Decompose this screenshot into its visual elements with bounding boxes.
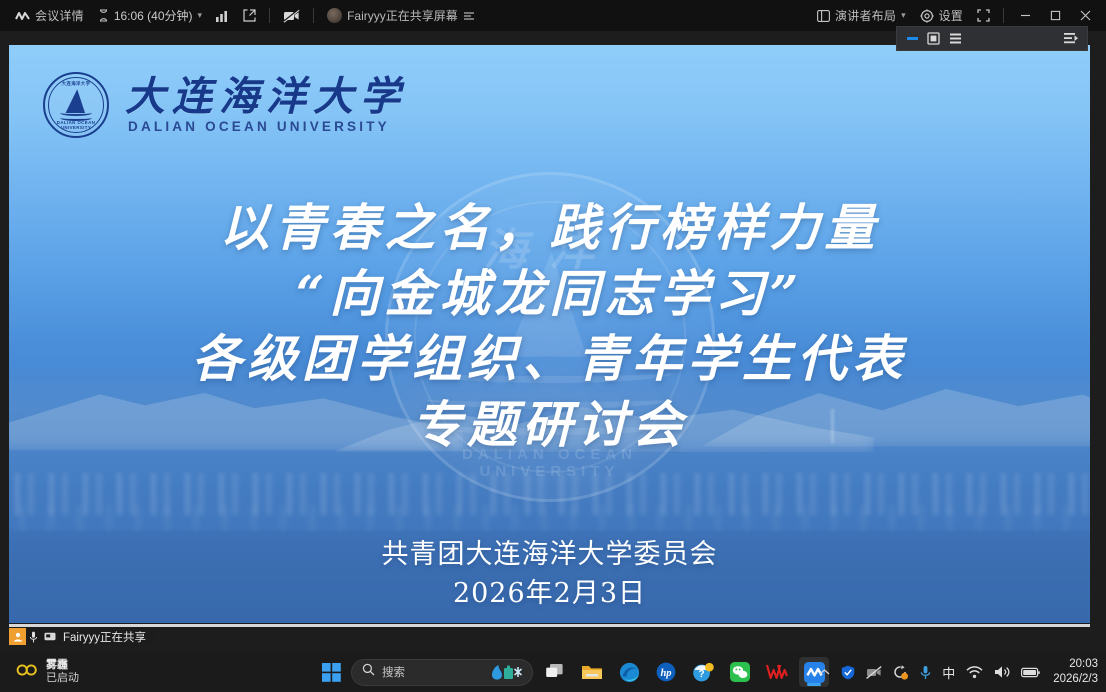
signal-bars-icon bbox=[216, 10, 229, 22]
svg-text:hp: hp bbox=[660, 668, 671, 679]
sharer-indicator[interactable]: Fairyyy正在共享屏幕 bbox=[320, 4, 482, 27]
avatar bbox=[327, 8, 342, 23]
mini-minimize-button[interactable] bbox=[907, 37, 918, 40]
share-external-icon bbox=[243, 9, 256, 22]
taskbar-center: 搜索 bbox=[318, 657, 829, 687]
camera-off-button[interactable] bbox=[276, 5, 307, 27]
speaker-layout-label: 演讲者布局 bbox=[835, 10, 896, 22]
clock-time: 20:03 bbox=[1069, 657, 1098, 672]
side-panel-toggle-icon bbox=[1064, 32, 1079, 45]
chevron-down-icon-layout: ▾ bbox=[901, 11, 906, 20]
camera-muted-icon[interactable] bbox=[866, 666, 882, 679]
microphone-icon[interactable] bbox=[920, 665, 931, 680]
wifi-icon[interactable] bbox=[966, 666, 983, 679]
slide-title-line-2: “向金城龙同志学习” bbox=[9, 261, 1090, 327]
university-name-english: DALIAN OCEAN UNIVERSITY bbox=[125, 119, 407, 134]
slide-title-line-4: 专题研讨会 bbox=[9, 392, 1090, 458]
slide-title-line-1: 以青春之名，践行榜样力量 bbox=[9, 195, 1090, 261]
sharing-status-label: Fairyyy正在共享 bbox=[59, 629, 146, 645]
slide-subtitle-date: 2026年2月3日 bbox=[9, 574, 1090, 613]
fullscreen-icon bbox=[977, 9, 990, 22]
meeting-logo-icon bbox=[15, 10, 30, 21]
list-view-icon bbox=[949, 32, 962, 45]
seal-bottom-text: DALIAN OCEAN UNIVERSITY bbox=[45, 120, 107, 130]
meeting-details-label: 会议详情 bbox=[35, 10, 84, 22]
sharer-label: Fairyyy正在共享屏幕 bbox=[347, 10, 458, 22]
city-skyline-reflection bbox=[9, 505, 1090, 531]
windows-taskbar: 雾霾 已启动 搜索 bbox=[0, 652, 1106, 692]
meeting-timer[interactable]: 16:06 (40分钟) ▾ bbox=[91, 5, 209, 26]
university-name-chinese: 大连海洋大学 bbox=[125, 76, 407, 118]
mini-toolbar-right bbox=[1064, 32, 1087, 45]
toolbar-divider bbox=[269, 8, 270, 23]
svg-text:?: ? bbox=[699, 669, 705, 680]
floating-mini-toolbar bbox=[896, 26, 1088, 51]
side-panel-toggle-button[interactable] bbox=[1064, 32, 1079, 45]
taskbar-clock[interactable]: 20:03 2026/2/3 bbox=[1053, 657, 1098, 686]
slide-title: 以青春之名，践行榜样力量 “向金城龙同志学习” 各级团学组织、青年学生代表 专题… bbox=[9, 195, 1090, 457]
battery-icon[interactable] bbox=[1021, 667, 1040, 678]
share-region-underline bbox=[9, 624, 1090, 627]
taskbar-weather-widget[interactable]: 雾霾 已启动 bbox=[0, 659, 300, 685]
meeting-toolbar-left: 会议详情 16:06 (40分钟) ▾ bbox=[0, 4, 482, 27]
university-logo: 大连海洋大学 DALIAN OCEAN UNIVERSITY 大连海洋大学 DA… bbox=[43, 72, 407, 138]
clock-date: 2026/2/3 bbox=[1053, 672, 1098, 687]
more-menu-icon[interactable] bbox=[463, 11, 475, 21]
settings-button[interactable]: 设置 bbox=[913, 5, 970, 27]
edge-browser-icon[interactable] bbox=[614, 657, 644, 687]
layout-icon bbox=[817, 10, 830, 22]
meeting-details-button[interactable]: 会议详情 bbox=[8, 6, 91, 26]
toolbar-divider-3 bbox=[1003, 8, 1004, 23]
file-explorer-icon[interactable] bbox=[577, 657, 607, 687]
network-quality-button[interactable] bbox=[209, 6, 236, 26]
restore-window-icon bbox=[927, 32, 940, 45]
wechat-icon[interactable] bbox=[725, 657, 755, 687]
toolbar-divider-2 bbox=[313, 8, 314, 23]
seal-top-text: 大连海洋大学 bbox=[45, 81, 107, 87]
gear-icon bbox=[920, 9, 934, 23]
weather-text: 雾霾 已启动 bbox=[46, 659, 79, 685]
speaker-layout-button[interactable]: 演讲者布局 ▾ bbox=[810, 6, 913, 26]
slide-subtitle-organization: 共青团大连海洋大学委员会 bbox=[9, 535, 1090, 574]
university-seal-emblem: 大连海洋大学 DALIAN OCEAN UNIVERSITY bbox=[43, 72, 109, 138]
system-tray: 中 20:03 2026/2/3 bbox=[819, 657, 1098, 686]
shared-screen-slide[interactable]: 海洋 DALIAN OCEAN UNIVERSITY 大连海洋大学 DALIAN… bbox=[9, 45, 1090, 623]
meeting-timer-label: 16:06 (40分钟) bbox=[114, 10, 193, 22]
university-logo-text: 大连海洋大学 DALIAN OCEAN UNIVERSITY bbox=[125, 76, 407, 134]
screen-root: 会议详情 16:06 (40分钟) ▾ bbox=[0, 0, 1106, 692]
weather-title: 雾霾 bbox=[46, 659, 79, 672]
camera-off-icon bbox=[283, 9, 300, 23]
slide-subtitle: 共青团大连海洋大学委员会 2026年2月3日 bbox=[9, 535, 1090, 614]
show-hidden-icons-chevron[interactable] bbox=[819, 668, 830, 677]
chevron-down-icon: ▾ bbox=[198, 11, 203, 20]
screen-share-icon[interactable] bbox=[41, 632, 59, 642]
task-view-icon[interactable] bbox=[540, 657, 570, 687]
microphone-icon[interactable] bbox=[26, 631, 41, 643]
security-shield-icon[interactable] bbox=[841, 665, 855, 680]
fullscreen-button[interactable] bbox=[970, 5, 997, 26]
slide-title-line-3: 各级团学组织、青年学生代表 bbox=[9, 326, 1090, 392]
search-input[interactable]: 搜索 bbox=[351, 659, 533, 686]
share-external-button[interactable] bbox=[236, 5, 263, 26]
mini-toolbar-left bbox=[897, 32, 962, 45]
hp-support-icon[interactable]: hp bbox=[651, 657, 681, 687]
search-icon bbox=[362, 663, 375, 681]
sharing-status-bar[interactable]: Fairyyy正在共享 bbox=[9, 628, 154, 645]
mini-restore-button[interactable] bbox=[927, 32, 940, 45]
weather-subtitle: 已启动 bbox=[46, 672, 79, 685]
search-placeholder: 搜索 bbox=[382, 664, 483, 680]
volume-icon[interactable] bbox=[994, 665, 1010, 679]
settings-label: 设置 bbox=[939, 10, 963, 22]
windows-start-icon[interactable] bbox=[318, 659, 344, 685]
person-icon bbox=[9, 628, 26, 645]
wps-office-icon[interactable] bbox=[762, 657, 792, 687]
minimize-icon bbox=[907, 37, 918, 40]
help-icon[interactable]: ? bbox=[688, 657, 718, 687]
haze-infinity-icon bbox=[16, 663, 38, 682]
search-suggestion-thumbnails[interactable] bbox=[490, 664, 524, 681]
sync-status-icon[interactable] bbox=[893, 665, 909, 680]
ime-indicator[interactable]: 中 bbox=[942, 663, 955, 682]
hourglass-icon bbox=[98, 9, 109, 22]
mini-list-button[interactable] bbox=[949, 32, 962, 45]
